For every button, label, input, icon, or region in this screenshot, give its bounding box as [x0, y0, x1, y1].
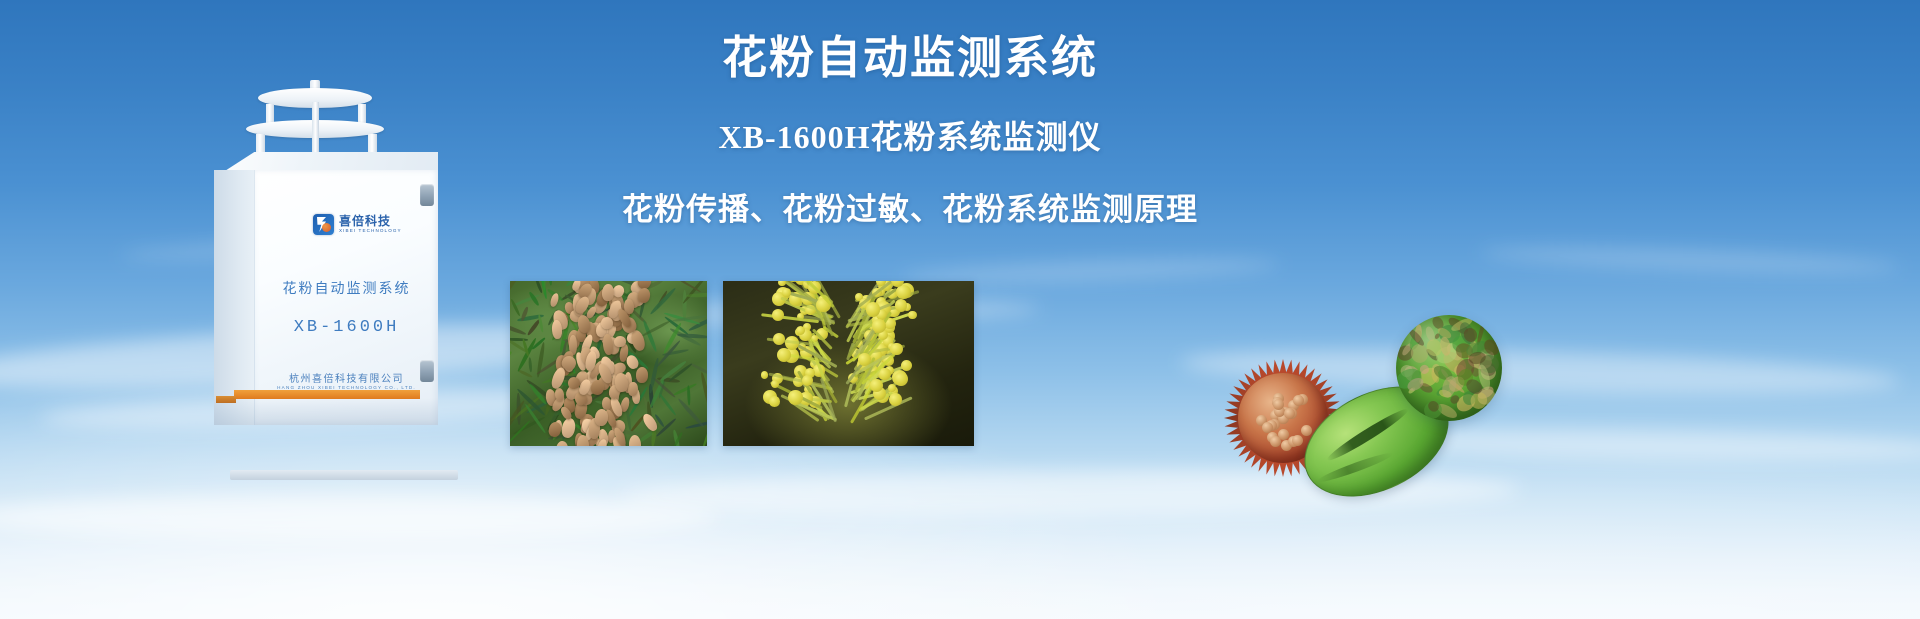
catkin-anther: [888, 384, 896, 392]
device-company-cn: 杭州喜倍科技有限公司: [255, 370, 438, 385]
catkin-anther: [761, 371, 769, 379]
page-title: 花粉自动监测系统: [600, 30, 1220, 86]
cedar-pollen-cones-photo: [510, 281, 707, 446]
green-spotted-pollen-grain: [1396, 315, 1502, 421]
catkin-anther: [889, 393, 902, 406]
pollen-monitor-device: 喜倍科技 XIBEI TECHNOLOGY 花粉自动监测系统 XB-1600H …: [196, 80, 456, 425]
cedar-pollen-cone: [601, 283, 614, 301]
device-model: XB-1600H: [255, 318, 438, 337]
topics-subtitle: 花粉传播、花粉过敏、花粉系统监测原理: [600, 184, 1220, 229]
cabinet-shading: [214, 398, 438, 425]
xibei-logo-icon: [313, 214, 334, 235]
pollen-monitoring-banner: 花粉自动监测系统 XB-1600H花粉系统监测仪 花粉传播、花粉过敏、花粉系统监…: [0, 0, 1920, 619]
air-inlet-head-icon: [240, 80, 390, 158]
cedar-pollen-cone: [551, 319, 562, 339]
catkin-anther: [895, 299, 908, 312]
cloud-wisp: [1480, 243, 1900, 278]
pollen-bump: [1273, 399, 1284, 410]
pollen-bump: [1262, 422, 1273, 433]
catkin-anther: [872, 319, 886, 333]
brand-name-cn: 喜倍科技: [339, 215, 402, 227]
cedar-pollen-cone: [636, 366, 648, 382]
headline-block: 花粉自动监测系统 XB-1600H花粉系统监测仪 花粉传播、花粉过敏、花粉系统监…: [600, 30, 1220, 229]
cloud-wisp: [0, 495, 720, 539]
cedar-pollen-cone: [601, 397, 611, 410]
cabinet-side-panel: [214, 170, 256, 425]
catkin-anther: [896, 285, 910, 299]
brand-logo: 喜倍科技 XIBEI TECHNOLOGY: [313, 214, 402, 235]
device-base: [230, 470, 458, 480]
pollen-body: [1396, 315, 1502, 421]
catkin-anther: [772, 309, 784, 321]
catkin-anther: [894, 372, 908, 386]
pollen-bump: [1293, 395, 1304, 406]
catkin-anther: [778, 281, 785, 286]
device-cabinet: 喜倍科技 XIBEI TECHNOLOGY 花粉自动监测系统 XB-1600H …: [214, 152, 438, 425]
cedar-pollen-cone: [628, 381, 638, 395]
upper-door-handle[interactable]: [420, 184, 434, 206]
brand-name-en: XIBEI TECHNOLOGY: [339, 229, 402, 234]
lower-door-handle[interactable]: [420, 360, 434, 382]
model-subtitle: XB-1600H花粉系统监测仪: [600, 112, 1220, 158]
cedar-needle: [687, 386, 690, 406]
catkin-anther: [788, 390, 803, 405]
catkin-anther: [782, 288, 791, 297]
pollen-bump: [1270, 436, 1281, 447]
catkin-anther: [870, 379, 883, 392]
catkin-stamens-photo: [723, 281, 974, 446]
cabinet-front-panel: 喜倍科技 XIBEI TECHNOLOGY 花粉自动监测系统 XB-1600H …: [254, 170, 438, 425]
device-product-name: 花粉自动监测系统: [255, 278, 438, 298]
